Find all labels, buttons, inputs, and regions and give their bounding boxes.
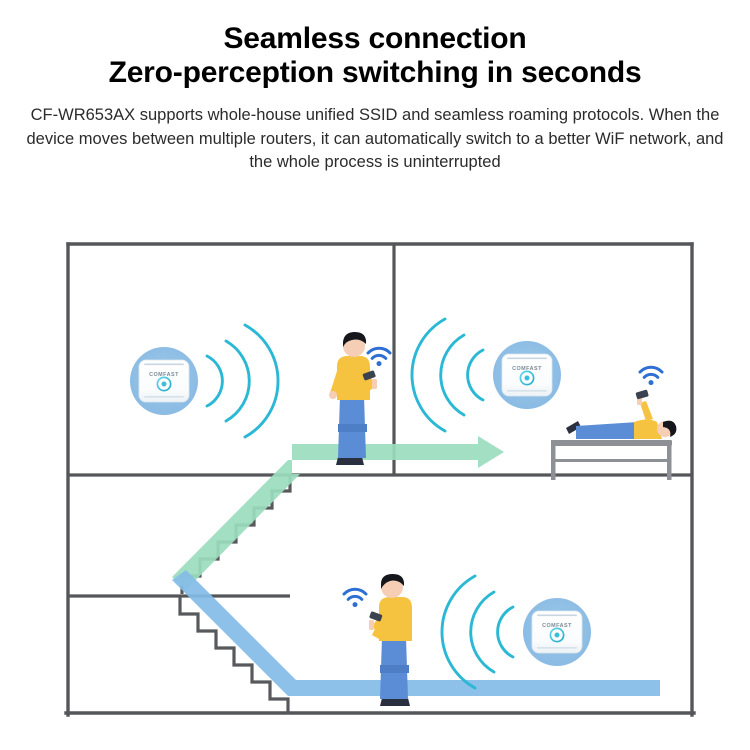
- person-lying-on-bed: [566, 367, 676, 439]
- wifi-badge-icon: [368, 348, 390, 366]
- router-brand-label: COMFAST: [542, 623, 572, 629]
- headline-line-2: Zero-perception switching in seconds: [0, 56, 750, 90]
- description-paragraph: CF-WR653AX supports whole-house unified …: [0, 90, 750, 175]
- interior-walls: [68, 245, 692, 596]
- wifi-badge-icon: [640, 367, 662, 385]
- exterior-walls: [66, 244, 694, 715]
- router-upper-left: COMFAST: [130, 347, 198, 415]
- router-lower-right: COMFAST: [523, 598, 591, 666]
- router-brand-label: COMFAST: [149, 372, 179, 378]
- router-brand-label: COMFAST: [512, 366, 542, 372]
- staircase-lower: [180, 597, 288, 714]
- page-title: Seamless connection Zero-perception swit…: [0, 0, 750, 90]
- wifi-waves-upper-left: [207, 325, 278, 437]
- headline-line-1: Seamless connection: [0, 22, 750, 56]
- wifi-waves-lower-right: [442, 576, 513, 688]
- house-roaming-diagram: COMFAST COMFAST: [0, 228, 750, 728]
- wifi-waves-upper-right: [412, 319, 483, 431]
- smartphone-icon: [635, 389, 648, 399]
- wifi-badge-icon: [344, 589, 366, 607]
- router-upper-right: COMFAST: [493, 341, 561, 409]
- promo-page: Seamless connection Zero-perception swit…: [0, 0, 750, 750]
